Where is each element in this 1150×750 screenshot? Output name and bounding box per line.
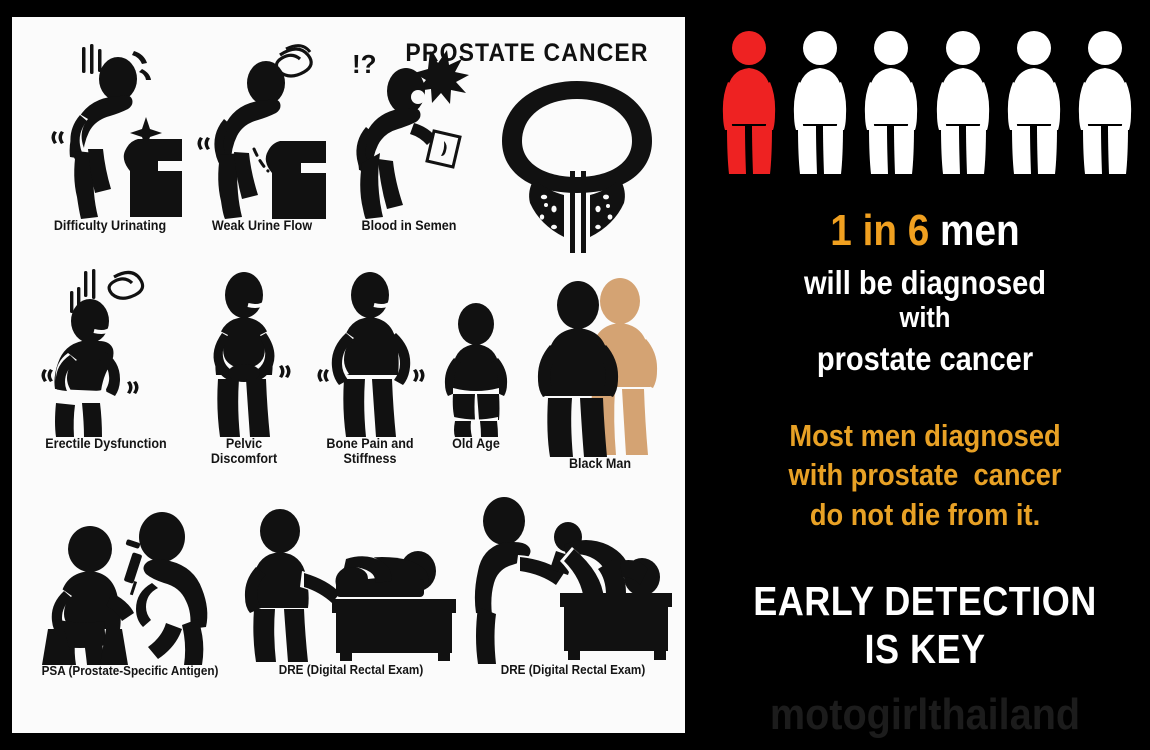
- call-to-action-line-1: EARLY DETECTION: [727, 578, 1123, 625]
- person-icon-3: [864, 28, 918, 176]
- caption: Old Age: [428, 437, 525, 452]
- statistic-headline: 1 in 6 men: [727, 206, 1123, 256]
- symptom-cell-blood-in-semen: !?: [334, 39, 484, 234]
- risk-cell-black-man: Black Man: [530, 275, 670, 472]
- man-weak-urine-stream-icon: [182, 39, 342, 219]
- person-icon-1-affected: [722, 28, 776, 176]
- svg-text:!?: !?: [352, 49, 377, 79]
- one-in-six-men-pictogram: [722, 28, 1132, 176]
- caption: DRE (Digital Rectal Exam): [248, 664, 454, 678]
- person-icon-5: [1007, 28, 1061, 176]
- caption: Pelvic Discomfort: [188, 437, 300, 466]
- caption: Blood in Semen: [339, 219, 479, 234]
- anatomy-cell-bladder-prostate: [482, 75, 672, 257]
- risk-cell-bone-pain-stiffness: Bone Pain and Stiffness: [306, 269, 434, 466]
- test-cell-dre-kneeling: DRE (Digital Rectal Exam): [464, 489, 682, 678]
- survival-line-3: do not die from it.: [727, 497, 1123, 533]
- man-straining-on-toilet-icon: [30, 39, 190, 219]
- caption: Black Man: [535, 457, 665, 472]
- doctor-drawing-blood-syringe-icon: [22, 507, 238, 665]
- watermark: motogirlthailand: [723, 690, 1128, 740]
- bladder-prostate-anatomy-icon: [482, 75, 672, 257]
- caption: Bone Pain and Stiffness: [310, 437, 429, 466]
- test-cell-dre-lying: DRE (Digital Rectal Exam): [240, 509, 462, 678]
- symptom-panel: PROSTATE CANCER: [12, 17, 685, 733]
- statistic-line-4: prostate cancer: [727, 340, 1123, 378]
- prostate-cancer-infographic: PROSTATE CANCER: [0, 0, 1150, 750]
- test-cell-psa: PSA (Prostate-Specific Antigen): [22, 507, 238, 679]
- statistic-line-3: with: [727, 302, 1123, 335]
- man-dizzy-hands-on-hips-icon: [30, 269, 182, 437]
- risk-cell-pelvic-discomfort: Pelvic Discomfort: [184, 269, 304, 466]
- statistic-line-2: will be diagnosed: [727, 264, 1123, 302]
- person-icon-6: [1078, 28, 1132, 176]
- statistic-ratio: 1 in 6: [830, 206, 929, 255]
- man-examining-tissue-icon: !?: [334, 39, 484, 219]
- patient-lying-side-exam-table-icon: [240, 509, 462, 664]
- person-icon-4: [936, 28, 990, 176]
- survival-line-2: with prostate cancer: [727, 457, 1123, 493]
- survival-line-1: Most men diagnosed: [727, 418, 1123, 454]
- man-holding-groin-icon: [184, 269, 304, 437]
- risk-cell-erectile-dysfunction: Erectile Dysfunction: [30, 269, 182, 452]
- person-icon-2: [793, 28, 847, 176]
- caption: Difficulty Urinating: [36, 219, 185, 234]
- elderly-short-man-icon: [424, 302, 528, 437]
- risk-cell-old-age: Old Age: [424, 302, 528, 452]
- caption: Erectile Dysfunction: [35, 437, 176, 452]
- statistic-subject: men: [929, 206, 1019, 255]
- two-men-black-and-tan-icon: [530, 275, 670, 457]
- call-to-action-line-2: IS KEY: [727, 626, 1123, 673]
- symptom-cell-weak-urine-flow: Weak Urine Flow: [182, 39, 342, 234]
- man-hands-on-hips-aching-icon: [306, 269, 434, 437]
- stats-panel: 1 in 6 men will be diagnosed with prosta…: [700, 0, 1150, 750]
- patient-kneeling-exam-table-icon: [464, 489, 682, 664]
- caption: DRE (Digital Rectal Exam): [472, 664, 675, 678]
- symptom-cell-difficulty-urinating: Difficulty Urinating: [30, 39, 190, 234]
- caption: Weak Urine Flow: [188, 219, 337, 234]
- caption: PSA (Prostate-Specific Antigen): [30, 665, 231, 679]
